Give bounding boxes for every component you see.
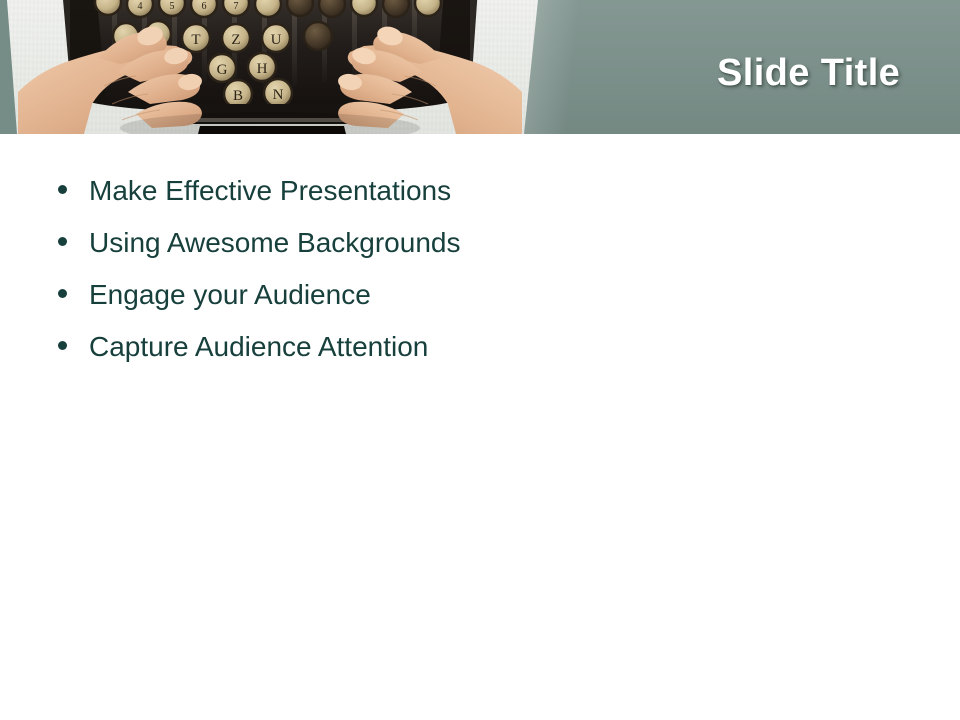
page-title: Slide Title [717,52,900,95]
svg-text:H: H [257,61,268,77]
svg-text:6: 6 [202,1,207,12]
svg-text:T: T [191,32,200,48]
bullet-dot-icon [58,341,67,350]
svg-text:4: 4 [138,1,143,12]
slide-canvas: 4 5 6 7 T Z U [0,0,960,720]
bullet-dot-icon [58,289,67,298]
svg-text:G: G [217,62,228,78]
svg-text:Z: Z [231,32,240,48]
bullet-dot-icon [58,185,67,194]
svg-text:5: 5 [170,1,175,12]
svg-text:7: 7 [234,1,239,12]
bullet-list: Make Effective Presentations Using Aweso… [56,173,676,381]
bullet-dot-icon [58,237,67,246]
list-item[interactable]: Using Awesome Backgrounds [56,225,676,277]
typewriter-illustration: 4 5 6 7 T Z U [0,0,540,134]
list-item-label: Capture Audience Attention [89,331,428,362]
list-item-label: Engage your Audience [89,279,371,310]
list-item-label: Using Awesome Backgrounds [89,227,460,258]
list-item[interactable]: Capture Audience Attention [56,329,676,381]
slide-header: 4 5 6 7 T Z U [0,0,960,134]
list-item[interactable]: Engage your Audience [56,277,676,329]
svg-text:N: N [273,87,284,103]
typewriter-photo: 4 5 6 7 T Z U [0,0,540,134]
svg-text:U: U [271,32,282,48]
list-item-label: Make Effective Presentations [89,175,451,206]
svg-text:B: B [233,88,243,104]
list-item[interactable]: Make Effective Presentations [56,173,676,225]
